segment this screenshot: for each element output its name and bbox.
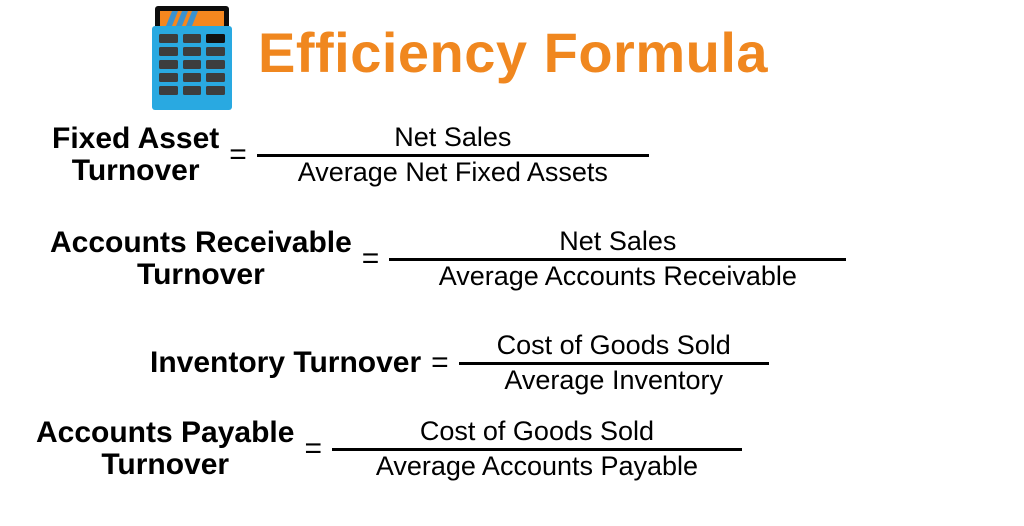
fraction-denominator: Average Net Fixed Assets — [257, 157, 649, 189]
formula-label: Accounts Payable Turnover — [36, 417, 294, 481]
calculator-key — [159, 47, 178, 56]
formula-label-line1: Accounts Receivable — [50, 227, 352, 259]
fraction-numerator: Cost of Goods Sold — [332, 416, 742, 448]
fraction-numerator: Cost of Goods Sold — [459, 330, 769, 362]
fraction-numerator: Net Sales — [389, 226, 846, 258]
formula-label-line1: Accounts Payable — [36, 417, 294, 449]
calculator-key — [183, 60, 202, 69]
formula-fraction: Cost of Goods Sold Average Inventory — [459, 330, 769, 397]
page-title: Efficiency Formula — [258, 22, 768, 84]
formula-label: Accounts Receivable Turnover — [50, 227, 352, 291]
formula-label-line2: Turnover — [50, 259, 352, 291]
equals-sign: = — [421, 346, 459, 380]
calculator-key — [159, 86, 178, 95]
formula-fraction: Cost of Goods Sold Average Accounts Paya… — [332, 416, 742, 483]
equals-sign: = — [294, 432, 332, 466]
formula-label-line1: Fixed Asset — [52, 123, 219, 155]
calculator-key — [159, 60, 178, 69]
equals-sign: = — [219, 138, 257, 172]
calculator-keypad — [159, 34, 225, 95]
calculator-key — [206, 86, 225, 95]
calculator-icon — [152, 6, 232, 110]
formula-label: Inventory Turnover — [150, 347, 421, 379]
calculator-key — [183, 47, 202, 56]
fraction-denominator: Average Inventory — [459, 365, 769, 397]
equals-sign: = — [352, 242, 390, 276]
calculator-key — [159, 34, 178, 43]
calculator-key — [159, 73, 178, 82]
fraction-numerator: Net Sales — [257, 122, 649, 154]
formula-label-line1: Inventory Turnover — [150, 347, 421, 379]
formula-row-accounts-payable: Accounts Payable Turnover = Cost of Good… — [36, 416, 742, 483]
calculator-key — [206, 47, 225, 56]
formula-row-fixed-asset: Fixed Asset Turnover = Net Sales Average… — [52, 122, 649, 189]
formula-label: Fixed Asset Turnover — [52, 123, 219, 187]
formula-row-accounts-receivable: Accounts Receivable Turnover = Net Sales… — [50, 226, 846, 293]
calculator-key — [183, 34, 202, 43]
header: Efficiency Formula — [0, 0, 1024, 118]
fraction-denominator: Average Accounts Receivable — [389, 261, 846, 293]
formula-fraction: Net Sales Average Accounts Receivable — [389, 226, 846, 293]
formula-label-line2: Turnover — [36, 449, 294, 481]
fraction-denominator: Average Accounts Payable — [332, 451, 742, 483]
calculator-key — [183, 73, 202, 82]
calculator-key-accent — [206, 34, 225, 43]
formula-row-inventory: Inventory Turnover = Cost of Goods Sold … — [150, 330, 769, 397]
formula-label-line2: Turnover — [52, 155, 219, 187]
calculator-key — [183, 86, 202, 95]
calculator-key — [206, 60, 225, 69]
formula-fraction: Net Sales Average Net Fixed Assets — [257, 122, 649, 189]
calculator-key — [206, 73, 225, 82]
